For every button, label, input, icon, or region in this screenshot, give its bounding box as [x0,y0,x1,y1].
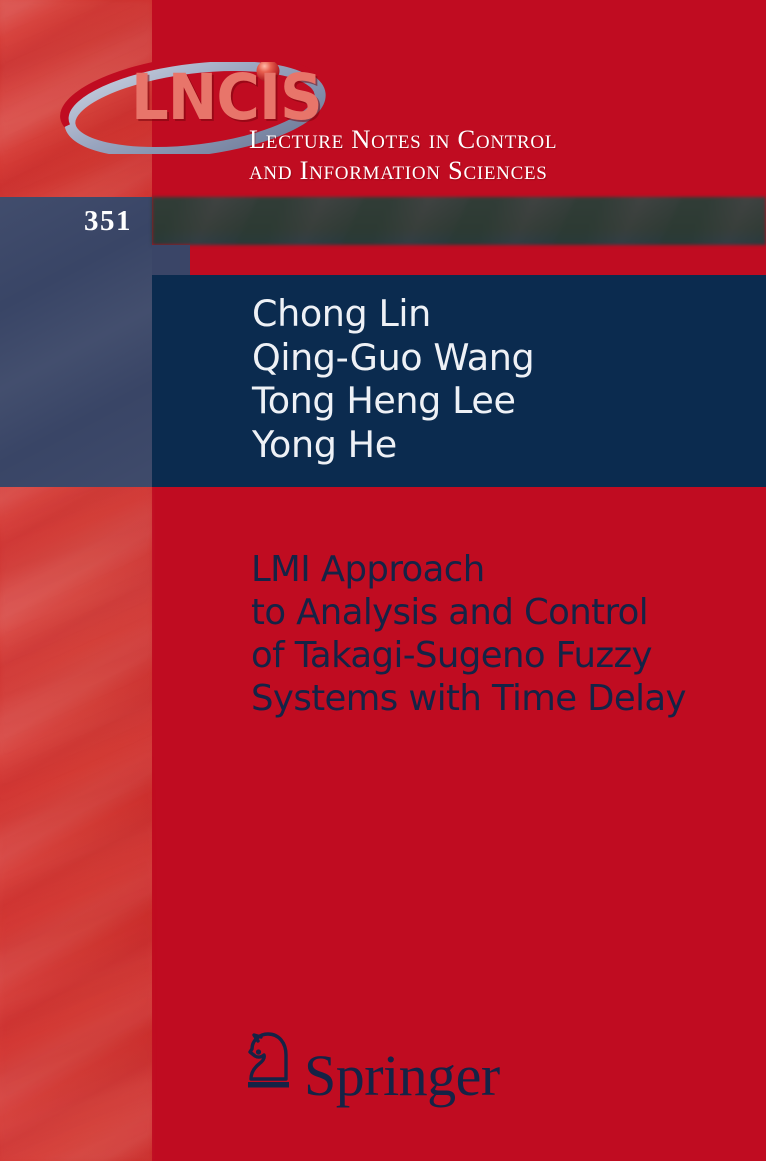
author-name: Chong Lin [252,292,534,336]
title-line: Systems with Time Delay [251,677,761,720]
springer-knight-icon [238,1029,294,1100]
navy-left-block [0,197,152,487]
dark-texture-band [152,197,766,245]
book-title: LMI Approach to Analysis and Control of … [251,548,761,720]
author-name: Tong Heng Lee [252,379,534,423]
series-header-band: LNCIS Lecture Notes in Control and Infor… [0,0,766,197]
series-name-line-2: and Information Sciences [249,155,679,186]
book-cover: LNCIS Lecture Notes in Control and Infor… [0,0,766,1161]
navy-offset-square [152,245,190,275]
volume-number: 351 [84,205,132,238]
publisher-name: Springer [304,1047,500,1105]
series-name: Lecture Notes in Control and Information… [249,124,679,187]
title-line: of Takagi-Sugeno Fuzzy [251,634,761,677]
title-line: LMI Approach [251,548,761,591]
series-name-line-1: Lecture Notes in Control [249,124,557,154]
author-name: Yong He [252,423,534,467]
author-name: Qing-Guo Wang [252,336,534,380]
title-line: to Analysis and Control [251,591,761,634]
lncis-wordmark: LNCIS [131,66,322,129]
publisher-logo: Springer [238,1029,500,1100]
author-list: Chong Lin Qing-Guo Wang Tong Heng Lee Yo… [252,292,534,466]
